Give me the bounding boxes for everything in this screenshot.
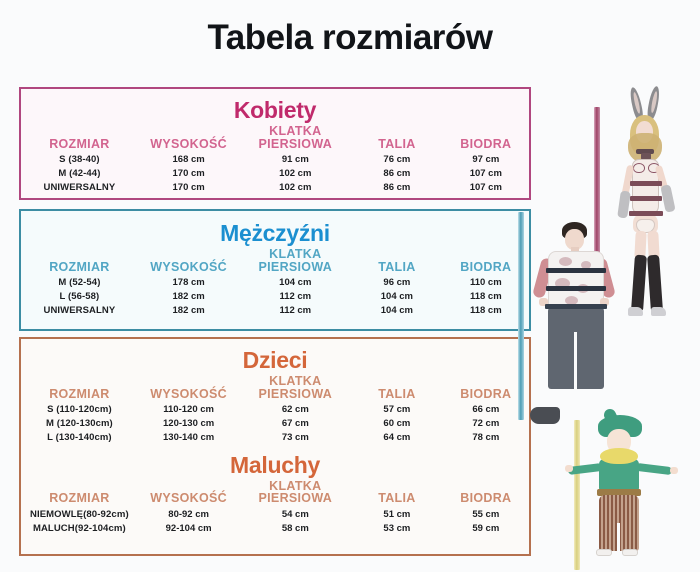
cell-hips: 118 cm (443, 304, 529, 318)
cell-hips: 97 cm (443, 153, 529, 167)
column-header-chest: KLATKA PIERSIOWA (239, 375, 351, 403)
child-leg-separation (617, 523, 620, 551)
column-header-waist: TALIA (351, 248, 442, 276)
group-title-toddlers: Maluchy (21, 453, 529, 477)
column-header-hips: BIODRA (443, 248, 529, 276)
cell-size-label: NIEMOWLĘ (30, 509, 83, 520)
cell-height: 182 cm (138, 304, 240, 318)
column-header-chest-line2: PIERSIOWA (239, 261, 351, 274)
table-header-row: ROZMIAR WYSOKOŚĆ KLATKA PIERSIOWA TALIA … (21, 375, 529, 403)
table-row: M (120-130cm) 120-130 cm 67 cm 60 cm 72 … (21, 417, 529, 431)
column-header-chest-line2: PIERSIOWA (239, 492, 351, 505)
child-tunic (599, 459, 639, 493)
cell-waist: 76 cm (351, 153, 442, 167)
man-tattooed-figure (520, 222, 624, 392)
cell-hips: 59 cm (443, 522, 529, 536)
cell-height: 130-140 cm (138, 431, 240, 445)
table-row: L (130-140cm) 130-140 cm 73 cm 64 cm 78 … (21, 431, 529, 445)
column-header-height: WYSOKOŚĆ (138, 375, 240, 403)
cell-size: M (52-54) (21, 276, 138, 290)
cell-waist: 104 cm (351, 290, 442, 304)
women-measurements-table: ROZMIAR WYSOKOŚĆ KLATKA PIERSIOWA TALIA … (21, 125, 529, 195)
cell-waist: 64 cm (351, 431, 442, 445)
table-header-row: ROZMIAR WYSOKOŚĆ KLATKA PIERSIOWA TALIA … (21, 248, 529, 276)
column-header-chest-line1: KLATKA (239, 125, 351, 138)
cell-chest: 73 cm (239, 431, 351, 445)
size-table-men: Mężczyźni ROZMIAR WYSOKOŚĆ KLATKA PIERSI… (19, 209, 531, 331)
group-title-men: Mężczyźni (21, 221, 529, 245)
cell-chest: 104 cm (239, 276, 351, 290)
cell-chest: 62 cm (239, 403, 351, 417)
woman-hip-measure-band (629, 211, 663, 216)
column-header-chest-line2: PIERSIOWA (239, 138, 351, 151)
table-row: UNIWERSALNY 182 cm 112 cm 104 cm 118 cm (21, 304, 529, 318)
men-measurements-table: ROZMIAR WYSOKOŚĆ KLATKA PIERSIOWA TALIA … (21, 248, 529, 318)
column-header-size: ROZMIAR (21, 375, 138, 403)
woman-bust-left (633, 163, 645, 173)
cell-waist: 57 cm (351, 403, 442, 417)
cell-hips: 66 cm (443, 403, 529, 417)
column-header-chest-line1: KLATKA (239, 375, 351, 388)
cell-chest: 58 cm (239, 522, 351, 536)
cell-hips: 118 cm (443, 290, 529, 304)
children-measurements-table: ROZMIAR WYSOKOŚĆ KLATKA PIERSIOWA TALIA … (21, 375, 529, 445)
cell-height: 168 cm (138, 153, 240, 167)
column-header-size: ROZMIAR (21, 125, 138, 153)
man-leg-separation (574, 332, 577, 389)
toddlers-measurements-table: ROZMIAR WYSOKOŚĆ KLATKA PIERSIOWA TALIA … (21, 480, 529, 536)
cell-waist: 51 cm (351, 508, 442, 522)
woman-shoe-left (628, 307, 643, 316)
column-header-height: WYSOKOŚĆ (138, 480, 240, 508)
group-title-children: Dzieci (21, 348, 529, 372)
cell-height: 178 cm (138, 276, 240, 290)
man-waist-measure-band (546, 286, 606, 291)
woman-glove-right (660, 184, 675, 212)
woman-shoe-right (651, 307, 666, 316)
cell-size: L (56-58) (21, 290, 138, 304)
child-hand-left (565, 465, 573, 472)
table-row: S (110-120cm) 110-120 cm 62 cm 57 cm 66 … (21, 403, 529, 417)
size-table-women: Kobiety ROZMIAR WYSOKOŚĆ KLATKA PIERSIOW… (19, 87, 531, 200)
man-shirt (548, 251, 604, 309)
table-row: M (42-44) 170 cm 102 cm 86 cm 107 cm (21, 167, 529, 181)
column-header-size: ROZMIAR (21, 248, 138, 276)
cell-size-label: MALUCH (33, 523, 75, 534)
column-header-waist: TALIA (351, 125, 442, 153)
boot-icon (530, 407, 560, 424)
cell-chest: 112 cm (239, 304, 351, 318)
table-header-row: ROZMIAR WYSOKOŚĆ KLATKA PIERSIOWA TALIA … (21, 125, 529, 153)
cell-height: 120-130 cm (138, 417, 240, 431)
cell-chest: 112 cm (239, 290, 351, 304)
cell-waist: 53 cm (351, 522, 442, 536)
column-header-chest: KLATKA PIERSIOWA (239, 248, 351, 276)
table-row: MALUCH(92-104cm) 92-104 cm 58 cm 53 cm 5… (21, 522, 529, 536)
cell-size: M (42-44) (21, 167, 138, 181)
table-row: L (56-58) 182 cm 112 cm 104 cm 118 cm (21, 290, 529, 304)
cell-waist: 104 cm (351, 304, 442, 318)
cell-height: 170 cm (138, 181, 240, 195)
column-header-hips: BIODRA (443, 480, 529, 508)
woman-stocking-left (631, 255, 647, 312)
shirt-pattern-spot (559, 257, 572, 266)
cell-size: NIEMOWLĘ(80-92cm) (21, 508, 138, 522)
cell-waist: 60 cm (351, 417, 442, 431)
woman-chest-measure-band (630, 181, 662, 186)
group-title-women: Kobiety (21, 98, 529, 122)
cell-hips: 107 cm (443, 181, 529, 195)
cell-hips: 110 cm (443, 276, 529, 290)
child-shoe-left (596, 549, 612, 556)
cell-hips: 55 cm (443, 508, 529, 522)
cell-size: L (130-140cm) (21, 431, 138, 445)
cell-chest: 54 cm (239, 508, 351, 522)
child-hand-right (670, 467, 678, 474)
cell-hips: 78 cm (443, 431, 529, 445)
man-chest-measure-band (546, 268, 606, 273)
child-elf-costume-figure (574, 415, 684, 570)
woman-stocking-right (647, 255, 663, 312)
cell-hips: 107 cm (443, 167, 529, 181)
table-header-row: ROZMIAR WYSOKOŚĆ KLATKA PIERSIOWA TALIA … (21, 480, 529, 508)
table-row: UNIWERSALNY 170 cm 102 cm 86 cm 107 cm (21, 181, 529, 195)
cell-height: 110-120 cm (138, 403, 240, 417)
cell-height: 92-104 cm (138, 522, 240, 536)
table-row: NIEMOWLĘ(80-92cm) 80-92 cm 54 cm 51 cm 5… (21, 508, 529, 522)
cell-height: 182 cm (138, 290, 240, 304)
cell-size: S (38-40) (21, 153, 138, 167)
cell-waist: 86 cm (351, 181, 442, 195)
table-row: S (38-40) 168 cm 91 cm 76 cm 97 cm (21, 153, 529, 167)
column-header-chest: KLATKA PIERSIOWA (239, 480, 351, 508)
cell-chest: 102 cm (239, 167, 351, 181)
child-shoe-right (622, 549, 638, 556)
table-row: M (52-54) 178 cm 104 cm 96 cm 110 cm (21, 276, 529, 290)
column-header-waist: TALIA (351, 375, 442, 403)
column-header-height: WYSOKOŚĆ (138, 125, 240, 153)
column-header-chest-line1: KLATKA (239, 248, 351, 261)
cell-size-range: (80-92cm) (83, 509, 129, 520)
column-header-height: WYSOKOŚĆ (138, 248, 240, 276)
cell-size-range: (92-104cm) (75, 523, 126, 534)
cell-height: 80-92 cm (138, 508, 240, 522)
cell-hips: 72 cm (443, 417, 529, 431)
cell-waist: 96 cm (351, 276, 442, 290)
size-chart-page: Tabela rozmiarów Kobiety ROZMIAR WYSOKOŚ… (0, 0, 700, 572)
illustration-panel (534, 0, 700, 572)
child-ruffle-collar (600, 448, 638, 464)
cell-chest: 67 cm (239, 417, 351, 431)
man-hip-measure-band (545, 304, 607, 309)
cell-size: MALUCH(92-104cm) (21, 522, 138, 536)
cell-chest: 91 cm (239, 153, 351, 167)
woman-waist-measure-band (630, 196, 662, 201)
cell-size: UNIWERSALNY (21, 181, 138, 195)
cell-size: UNIWERSALNY (21, 304, 138, 318)
column-header-hips: BIODRA (443, 125, 529, 153)
size-table-children-toddlers: Dzieci ROZMIAR WYSOKOŚĆ KLATKA PIERSIOWA… (19, 337, 531, 556)
cell-size: M (120-130cm) (21, 417, 138, 431)
column-header-hips: BIODRA (443, 375, 529, 403)
cell-waist: 86 cm (351, 167, 442, 181)
cell-size: S (110-120cm) (21, 403, 138, 417)
column-header-size: ROZMIAR (21, 480, 138, 508)
child-arm-right (636, 463, 673, 475)
column-header-waist: TALIA (351, 480, 442, 508)
cell-height: 170 cm (138, 167, 240, 181)
column-header-chest-line2: PIERSIOWA (239, 388, 351, 401)
column-header-chest: KLATKA PIERSIOWA (239, 125, 351, 153)
cell-chest: 102 cm (239, 181, 351, 195)
